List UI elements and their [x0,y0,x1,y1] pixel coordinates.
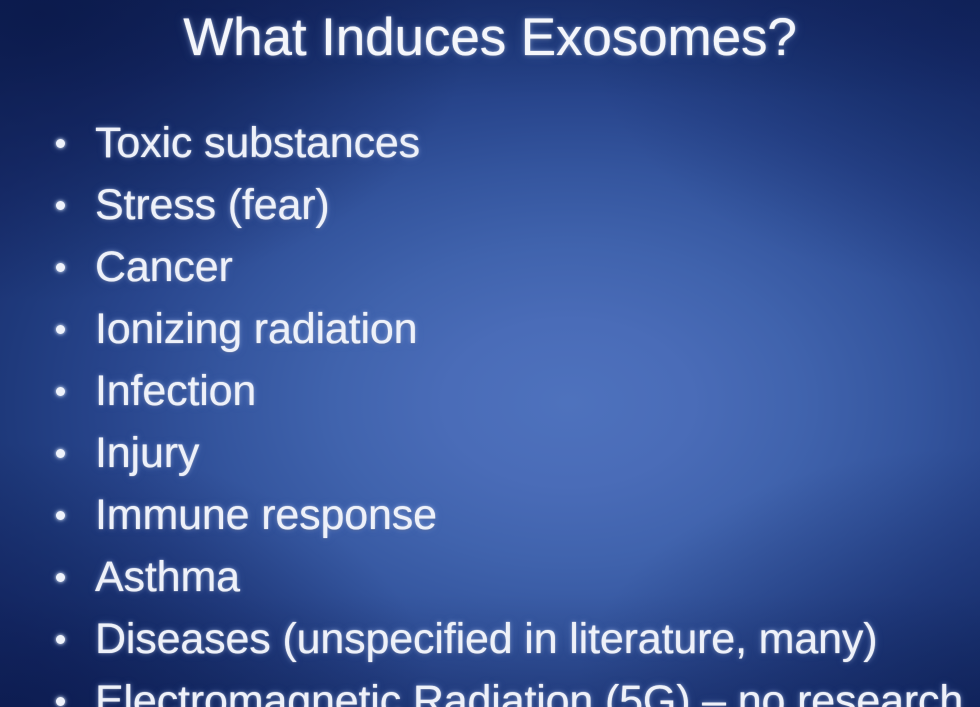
list-item-label: Immune response [95,490,437,540]
list-item: Immune response [0,484,980,546]
bullet-dot-icon [56,449,65,458]
list-item: Ionizing radiation [0,298,980,360]
bullet-dot-icon [56,139,65,148]
list-item-label: Diseases (unspecified in literature, man… [95,614,877,664]
bullet-dot-icon [56,635,65,644]
list-item-label: Stress (fear) [95,180,330,230]
list-item-label: Asthma [95,552,240,602]
bullet-dot-icon [56,325,65,334]
list-item: Cancer [0,236,980,298]
list-item: Electromagnetic Radiation (5G) – no rese… [0,670,980,707]
list-item: Stress (fear) [0,174,980,236]
list-item: Diseases (unspecified in literature, man… [0,608,980,670]
list-item-label: Infection [95,366,256,416]
bullet-dot-icon [56,201,65,210]
slide-title: What Induces Exosomes? [0,2,980,74]
list-item-label: Electromagnetic Radiation (5G) – no rese… [95,676,963,707]
bullet-dot-icon [56,511,65,520]
list-item-label: Toxic substances [95,118,420,168]
bullet-dot-icon [56,263,65,272]
list-item-label: Ionizing radiation [95,304,417,354]
list-item-label: Injury [95,428,199,478]
list-item: Infection [0,360,980,422]
slide-content: What Induces Exosomes? Toxic substances … [0,0,980,707]
bullet-dot-icon [56,573,65,582]
bullet-dot-icon [56,387,65,396]
list-item: Asthma [0,546,980,608]
list-item: Toxic substances [0,112,980,174]
list-item: Injury [0,422,980,484]
bullet-list: Toxic substances Stress (fear) Cancer Io… [0,112,980,707]
list-item-label: Cancer [95,242,233,292]
bullet-dot-icon [56,697,65,706]
presentation-slide: What Induces Exosomes? Toxic substances … [0,0,980,707]
